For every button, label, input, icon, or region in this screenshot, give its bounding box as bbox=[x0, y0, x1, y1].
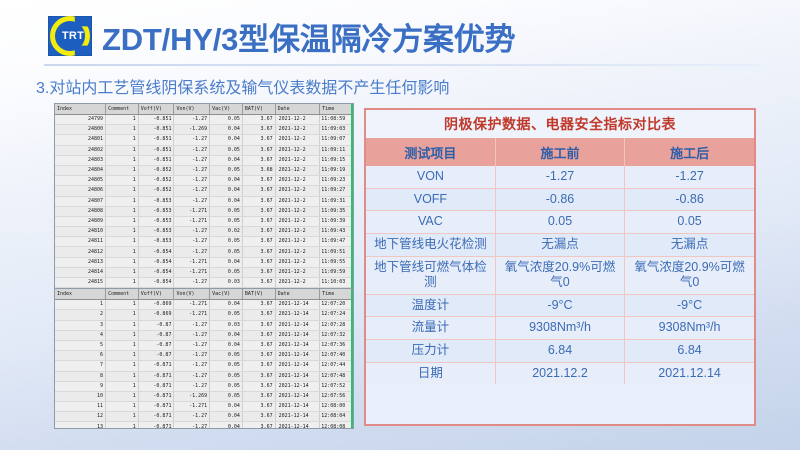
cell-date: 2021-12-14 bbox=[275, 320, 320, 330]
column-header-batv[interactable]: BAT(V) bbox=[242, 289, 275, 300]
cell-time: 11:09:35 bbox=[320, 206, 353, 216]
cell-comment: 1 bbox=[106, 340, 139, 350]
cell-date: 2021-12-14 bbox=[275, 361, 320, 371]
cell-vonv: -1.271 bbox=[174, 216, 210, 226]
cell-voffv: -0.854 bbox=[138, 257, 174, 267]
table-row[interactable]: 131-0.871-1.270.043.672021-12-1412:08:08 bbox=[55, 422, 353, 429]
column-header-time[interactable]: Time bbox=[320, 289, 353, 300]
table-row[interactable]: 111-0.871-1.2710.043.672021-12-1412:08:0… bbox=[55, 402, 353, 412]
value-after: -1.27 bbox=[625, 166, 754, 188]
cell-vonv: -1.27 bbox=[174, 371, 210, 381]
cell-batv: 3.67 bbox=[242, 145, 275, 155]
cell-vacv: 0.05 bbox=[210, 381, 243, 391]
comparison-row: VOFF-0.86-0.86 bbox=[366, 188, 754, 211]
cell-date: 2021-12-2 bbox=[275, 257, 320, 267]
cell-time: 12:07:32 bbox=[320, 330, 353, 340]
cell-time: 11:09:55 bbox=[320, 257, 353, 267]
table-row[interactable]: 248111-0.853-1.270.053.672021-12-211:09:… bbox=[55, 237, 353, 247]
cell-voffv: -0.871 bbox=[138, 422, 174, 429]
table-row[interactable]: 248011-0.851-1.270.043.672021-12-211:09:… bbox=[55, 135, 353, 145]
slide-header: TRT ZDT/HY/3型保温隔冷方案优势 bbox=[0, 8, 800, 64]
table-row[interactable]: 248061-0.852-1.270.043.672021-12-211:09:… bbox=[55, 186, 353, 196]
cell-batv: 3.67 bbox=[242, 227, 275, 237]
cell-date: 2021-12-2 bbox=[275, 216, 320, 226]
cell-time: 11:10:03 bbox=[320, 278, 353, 288]
table-row[interactable]: 21-0.869-1.2710.053.672021-12-1412:07:24 bbox=[55, 310, 353, 320]
cell-vonv: -1.27 bbox=[174, 320, 210, 330]
cell-batv: 3.67 bbox=[242, 412, 275, 422]
comparison-row-label: 温度计 bbox=[366, 294, 495, 317]
cell-time: 11:08:59 bbox=[320, 115, 353, 125]
table-row[interactable]: 51-0.87-1.270.043.672021-12-1412:07:36 bbox=[55, 340, 353, 350]
cell-vacv: 0.05 bbox=[210, 267, 243, 277]
cell-voffv: -0.853 bbox=[138, 196, 174, 206]
cell-comment: 1 bbox=[106, 145, 139, 155]
comparison-row: 温度计-9°C-9°C bbox=[366, 294, 754, 317]
cell-voffv: -0.871 bbox=[138, 361, 174, 371]
table-row[interactable]: 248051-0.852-1.270.043.672021-12-211:09:… bbox=[55, 176, 353, 186]
comparison-row: VON-1.27-1.27 bbox=[366, 166, 754, 188]
value-after: 氧气浓度20.9%可燃气0 bbox=[625, 256, 754, 294]
page-title: ZDT/HY/3型保温隔冷方案优势 bbox=[102, 14, 515, 59]
cell-batv: 3.68 bbox=[242, 165, 275, 175]
cell-batv: 3.67 bbox=[242, 206, 275, 216]
comparison-table: 测试项目施工前施工后 VON-1.27-1.27VOFF-0.86-0.86VA… bbox=[366, 138, 754, 384]
column-header-index[interactable]: Index bbox=[55, 289, 106, 300]
cell-vonv: -1.271 bbox=[174, 310, 210, 320]
cell-voffv: -0.851 bbox=[138, 115, 174, 125]
cell-vonv: -1.271 bbox=[174, 206, 210, 216]
cell-vacv: 0.05 bbox=[210, 237, 243, 247]
cell-batv: 3.67 bbox=[242, 340, 275, 350]
cell-vonv: -1.27 bbox=[174, 145, 210, 155]
value-before: -0.86 bbox=[495, 188, 624, 211]
cell-voffv: -0.871 bbox=[138, 402, 174, 412]
cell-date: 2021-12-14 bbox=[275, 330, 320, 340]
pane-highlight-edge bbox=[351, 289, 353, 429]
table-row[interactable]: 248121-0.854-1.270.053.672021-12-211:09:… bbox=[55, 247, 353, 257]
cell-vacv: 0.03 bbox=[210, 278, 243, 288]
cell-time: 11:09:43 bbox=[320, 227, 353, 237]
cell-comment: 1 bbox=[106, 351, 139, 361]
cell-vonv: -1.27 bbox=[174, 278, 210, 288]
cell-time: 11:09:23 bbox=[320, 176, 353, 186]
cell-index: 3 bbox=[55, 320, 106, 330]
table-row[interactable]: 81-0.871-1.270.053.672021-12-1412:07:48 bbox=[55, 371, 353, 381]
value-after: 0.05 bbox=[625, 211, 754, 234]
cell-vacv: 0.04 bbox=[210, 300, 243, 310]
table-row[interactable]: 248141-0.854-1.2710.053.672021-12-211:09… bbox=[55, 267, 353, 277]
cell-batv: 3.67 bbox=[242, 278, 275, 288]
cell-vonv: -1.269 bbox=[174, 391, 210, 401]
table-header-row: IndexCommentVoff(V)Von(V)Vac(V)BAT(V)Dat… bbox=[55, 104, 353, 115]
table-row[interactable]: 248041-0.852-1.270.053.682021-12-211:09:… bbox=[55, 165, 353, 175]
cell-index: 24810 bbox=[55, 227, 106, 237]
cell-comment: 1 bbox=[106, 135, 139, 145]
cell-comment: 1 bbox=[106, 237, 139, 247]
pane-highlight-edge bbox=[351, 104, 353, 288]
cell-vacv: 0.04 bbox=[210, 155, 243, 165]
value-after: -9°C bbox=[625, 294, 754, 317]
cell-vonv: -1.27 bbox=[174, 135, 210, 145]
column-header-vacv[interactable]: Vac(V) bbox=[210, 104, 243, 115]
section-subtitle: 3.对站内工艺管线阴保系统及输气仪表数据不产生任何影响 bbox=[36, 74, 449, 98]
cell-batv: 3.67 bbox=[242, 237, 275, 247]
comparison-row: VAC0.050.05 bbox=[366, 211, 754, 234]
comparison-row: 地下管线电火花检测无漏点无漏点 bbox=[366, 233, 754, 256]
cell-voffv: -0.853 bbox=[138, 227, 174, 237]
comparison-row-label: VOFF bbox=[366, 188, 495, 211]
cell-comment: 1 bbox=[106, 381, 139, 391]
cell-comment: 1 bbox=[106, 257, 139, 267]
cell-vonv: -1.271 bbox=[174, 267, 210, 277]
cell-time: 12:07:48 bbox=[320, 371, 353, 381]
comparison-row-label: 地下管线电火花检测 bbox=[366, 233, 495, 256]
cell-batv: 3.67 bbox=[242, 422, 275, 429]
cell-time: 11:09:51 bbox=[320, 247, 353, 257]
logo-text: TRT bbox=[62, 30, 84, 42]
cell-index: 24801 bbox=[55, 135, 106, 145]
cell-vonv: -1.271 bbox=[174, 402, 210, 412]
cell-vonv: -1.271 bbox=[174, 300, 210, 310]
cell-index: 24799 bbox=[55, 115, 106, 125]
column-header-comment[interactable]: Comment bbox=[106, 289, 139, 300]
cell-batv: 3.67 bbox=[242, 216, 275, 226]
column-header-vonv[interactable]: Von(V) bbox=[174, 289, 210, 300]
cell-voffv: -0.87 bbox=[138, 330, 174, 340]
table-header-row: IndexCommentVoff(V)Von(V)Vac(V)BAT(V)Dat… bbox=[55, 289, 353, 300]
comparison-row: 流量计9308Nm³/h9308Nm³/h bbox=[366, 317, 754, 340]
value-after: 2021.12.14 bbox=[625, 362, 754, 384]
comparison-column-header-0: 测试项目 bbox=[366, 138, 495, 166]
cell-time: 11:09:59 bbox=[320, 267, 353, 277]
cell-vonv: -1.27 bbox=[174, 227, 210, 237]
cell-date: 2021-12-14 bbox=[275, 300, 320, 310]
cell-voffv: -0.851 bbox=[138, 155, 174, 165]
cell-batv: 3.67 bbox=[242, 196, 275, 206]
cell-voffv: -0.851 bbox=[138, 125, 174, 135]
value-before: -9°C bbox=[495, 294, 624, 317]
cell-vacv: 0.05 bbox=[210, 310, 243, 320]
cell-comment: 1 bbox=[106, 186, 139, 196]
cell-vacv: 0.04 bbox=[210, 402, 243, 412]
cell-vacv: 0.04 bbox=[210, 186, 243, 196]
value-before: 氧气浓度20.9%可燃气0 bbox=[495, 256, 624, 294]
cell-vacv: 0.04 bbox=[210, 125, 243, 135]
cell-index: 24808 bbox=[55, 206, 106, 216]
value-before: 2021.12.2 bbox=[495, 362, 624, 384]
table-row[interactable]: 248101-0.853-1.270.023.672021-12-211:09:… bbox=[55, 227, 353, 237]
table-row[interactable]: 71-0.871-1.270.053.672021-12-1412:07:44 bbox=[55, 361, 353, 371]
cell-comment: 1 bbox=[106, 247, 139, 257]
cell-comment: 1 bbox=[106, 320, 139, 330]
table-row[interactable]: 248081-0.853-1.2710.053.672021-12-211:09… bbox=[55, 206, 353, 216]
cell-batv: 3.67 bbox=[242, 135, 275, 145]
cell-batv: 3.67 bbox=[242, 320, 275, 330]
cell-batv: 3.67 bbox=[242, 351, 275, 361]
cell-voffv: -0.852 bbox=[138, 165, 174, 175]
table-row[interactable]: 248031-0.851-1.270.043.672021-12-211:09:… bbox=[55, 155, 353, 165]
cell-vonv: -1.27 bbox=[174, 196, 210, 206]
cell-batv: 3.67 bbox=[242, 361, 275, 371]
cell-vonv: -1.27 bbox=[174, 351, 210, 361]
cell-voffv: -0.852 bbox=[138, 186, 174, 196]
cell-vonv: -1.27 bbox=[174, 412, 210, 422]
cell-batv: 3.67 bbox=[242, 381, 275, 391]
table-row[interactable]: 31-0.87-1.270.033.672021-12-1412:07:28 bbox=[55, 320, 353, 330]
cell-voffv: -0.87 bbox=[138, 340, 174, 350]
cell-comment: 1 bbox=[106, 300, 139, 310]
cell-index: 12 bbox=[55, 412, 106, 422]
cell-date: 2021-12-2 bbox=[275, 176, 320, 186]
cp-log-pane-before: IndexCommentVoff(V)Von(V)Vac(V)BAT(V)Dat… bbox=[55, 104, 353, 288]
cell-date: 2021-12-14 bbox=[275, 422, 320, 429]
cell-date: 2021-12-2 bbox=[275, 206, 320, 216]
value-after: 6.84 bbox=[625, 340, 754, 363]
cp-log-capture: IndexCommentVoff(V)Von(V)Vac(V)BAT(V)Dat… bbox=[54, 103, 354, 429]
cell-vacv: 0.04 bbox=[210, 176, 243, 186]
cell-vonv: -1.27 bbox=[174, 165, 210, 175]
cell-time: 12:07:56 bbox=[320, 391, 353, 401]
cell-comment: 1 bbox=[106, 115, 139, 125]
cell-vacv: 0.04 bbox=[210, 257, 243, 267]
cell-time: 12:07:40 bbox=[320, 351, 353, 361]
cell-vacv: 0.04 bbox=[210, 340, 243, 350]
table-row[interactable]: 248131-0.854-1.2710.043.672021-12-211:09… bbox=[55, 257, 353, 267]
cell-vonv: -1.27 bbox=[174, 237, 210, 247]
trt-logo: TRT bbox=[48, 16, 92, 56]
cell-date: 2021-12-14 bbox=[275, 391, 320, 401]
cell-index: 24804 bbox=[55, 165, 106, 175]
comparison-column-header-2: 施工后 bbox=[625, 138, 754, 166]
cell-date: 2021-12-14 bbox=[275, 381, 320, 391]
cell-batv: 3.67 bbox=[242, 402, 275, 412]
cell-index: 24807 bbox=[55, 196, 106, 206]
cell-index: 6 bbox=[55, 351, 106, 361]
cell-index: 4 bbox=[55, 330, 106, 340]
cell-index: 24814 bbox=[55, 267, 106, 277]
table-row[interactable]: 11-0.869-1.2710.043.672021-12-1412:07:20 bbox=[55, 300, 353, 310]
table-row[interactable]: 91-0.871-1.270.053.672021-12-1412:07:52 bbox=[55, 381, 353, 391]
comparison-row: 日期2021.12.22021.12.14 bbox=[366, 362, 754, 384]
cell-date: 2021-12-2 bbox=[275, 125, 320, 135]
cell-index: 24815 bbox=[55, 278, 106, 288]
cell-vacv: 0.04 bbox=[210, 412, 243, 422]
comparison-table-panel: 阴极保护数据、电器安全指标对比表 测试项目施工前施工后 VON-1.27-1.2… bbox=[364, 108, 756, 426]
value-before: 无漏点 bbox=[495, 233, 624, 256]
cell-vacv: 0.04 bbox=[210, 196, 243, 206]
cell-comment: 1 bbox=[106, 412, 139, 422]
column-header-time[interactable]: Time bbox=[320, 104, 353, 115]
cell-date: 2021-12-2 bbox=[275, 267, 320, 277]
column-header-vonv[interactable]: Von(V) bbox=[174, 104, 210, 115]
cell-batv: 3.67 bbox=[242, 267, 275, 277]
cell-vacv: 0.05 bbox=[210, 247, 243, 257]
table-row[interactable]: 61-0.87-1.270.053.672021-12-1412:07:40 bbox=[55, 351, 353, 361]
cell-date: 2021-12-14 bbox=[275, 371, 320, 381]
cell-batv: 3.67 bbox=[242, 391, 275, 401]
comparison-row-label: 日期 bbox=[366, 362, 495, 384]
cell-vonv: -1.27 bbox=[174, 155, 210, 165]
cell-voffv: -0.854 bbox=[138, 278, 174, 288]
cell-index: 24812 bbox=[55, 247, 106, 257]
column-header-voffv[interactable]: Voff(V) bbox=[138, 104, 174, 115]
value-before: 9308Nm³/h bbox=[495, 317, 624, 340]
comparison-row-label: 地下管线可燃气体检测 bbox=[366, 256, 495, 294]
cell-comment: 1 bbox=[106, 165, 139, 175]
cell-vonv: -1.27 bbox=[174, 422, 210, 429]
cell-time: 12:08:08 bbox=[320, 422, 353, 429]
cell-time: 12:07:52 bbox=[320, 381, 353, 391]
cell-voffv: -0.853 bbox=[138, 237, 174, 247]
column-header-vacv[interactable]: Vac(V) bbox=[210, 289, 243, 300]
cell-vacv: 0.05 bbox=[210, 216, 243, 226]
column-header-date[interactable]: Date bbox=[275, 289, 320, 300]
cell-index: 7 bbox=[55, 361, 106, 371]
column-header-index[interactable]: Index bbox=[55, 104, 106, 115]
cell-batv: 3.67 bbox=[242, 300, 275, 310]
cell-vacv: 0.05 bbox=[210, 361, 243, 371]
cell-comment: 1 bbox=[106, 310, 139, 320]
cell-vacv: 0.05 bbox=[210, 165, 243, 175]
cell-date: 2021-12-2 bbox=[275, 165, 320, 175]
cell-batv: 3.67 bbox=[242, 310, 275, 320]
cell-voffv: -0.871 bbox=[138, 391, 174, 401]
cell-batv: 3.67 bbox=[242, 330, 275, 340]
value-after: -0.86 bbox=[625, 188, 754, 211]
cell-time: 12:08:04 bbox=[320, 412, 353, 422]
comparison-column-header-1: 施工前 bbox=[495, 138, 624, 166]
cell-comment: 1 bbox=[106, 176, 139, 186]
cell-index: 24809 bbox=[55, 216, 106, 226]
cell-vonv: -1.27 bbox=[174, 340, 210, 350]
cell-date: 2021-12-14 bbox=[275, 310, 320, 320]
cell-date: 2021-12-2 bbox=[275, 247, 320, 257]
cell-index: 10 bbox=[55, 391, 106, 401]
cell-comment: 1 bbox=[106, 155, 139, 165]
column-header-voffv[interactable]: Voff(V) bbox=[138, 289, 174, 300]
comparison-row-label: VON bbox=[366, 166, 495, 188]
cell-comment: 1 bbox=[106, 391, 139, 401]
cell-vacv: 0.04 bbox=[210, 330, 243, 340]
cell-date: 2021-12-2 bbox=[275, 237, 320, 247]
cell-comment: 1 bbox=[106, 371, 139, 381]
cell-comment: 1 bbox=[106, 361, 139, 371]
cell-vacv: 0.05 bbox=[210, 115, 243, 125]
cell-vonv: -1.27 bbox=[174, 186, 210, 196]
value-after: 无漏点 bbox=[625, 233, 754, 256]
cell-index: 24803 bbox=[55, 155, 106, 165]
table-row[interactable]: 248091-0.853-1.2710.053.672021-12-211:09… bbox=[55, 216, 353, 226]
cell-date: 2021-12-2 bbox=[275, 227, 320, 237]
cell-vonv: -1.269 bbox=[174, 125, 210, 135]
cell-date: 2021-12-2 bbox=[275, 135, 320, 145]
cell-date: 2021-12-14 bbox=[275, 340, 320, 350]
cell-vacv: 0.05 bbox=[210, 206, 243, 216]
cell-date: 2021-12-14 bbox=[275, 351, 320, 361]
cell-time: 11:09:47 bbox=[320, 237, 353, 247]
cell-time: 11:09:11 bbox=[320, 145, 353, 155]
cell-index: 9 bbox=[55, 381, 106, 391]
cell-batv: 3.67 bbox=[242, 176, 275, 186]
comparison-header-row: 测试项目施工前施工后 bbox=[366, 138, 754, 166]
cell-vacv: 0.05 bbox=[210, 351, 243, 361]
table-row[interactable]: 248071-0.853-1.270.043.672021-12-211:09:… bbox=[55, 196, 353, 206]
cell-vonv: -1.27 bbox=[174, 381, 210, 391]
cell-voffv: -0.854 bbox=[138, 247, 174, 257]
cell-vacv: 0.05 bbox=[210, 391, 243, 401]
value-after: 9308Nm³/h bbox=[625, 317, 754, 340]
cell-date: 2021-12-2 bbox=[275, 186, 320, 196]
value-before: 0.05 bbox=[495, 211, 624, 234]
cell-index: 2 bbox=[55, 310, 106, 320]
table-row[interactable]: 121-0.871-1.270.043.672021-12-1412:08:04 bbox=[55, 412, 353, 422]
cell-date: 2021-12-14 bbox=[275, 402, 320, 412]
column-header-date[interactable]: Date bbox=[275, 104, 320, 115]
cell-vacv: 0.03 bbox=[210, 320, 243, 330]
cell-time: 11:09:19 bbox=[320, 165, 353, 175]
cell-time: 12:07:44 bbox=[320, 361, 353, 371]
cell-vonv: -1.27 bbox=[174, 247, 210, 257]
table-row[interactable]: 248001-0.851-1.2690.043.672021-12-211:09… bbox=[55, 125, 353, 135]
cell-vacv: 0.05 bbox=[210, 145, 243, 155]
table-row[interactable]: 247991-0.851-1.270.053.672021-12-211:08:… bbox=[55, 115, 353, 125]
cell-batv: 3.67 bbox=[242, 371, 275, 381]
cell-date: 2021-12-2 bbox=[275, 145, 320, 155]
cell-comment: 1 bbox=[106, 125, 139, 135]
table-row[interactable]: 101-0.871-1.2690.053.672021-12-1412:07:5… bbox=[55, 391, 353, 401]
cell-vacv: 0.04 bbox=[210, 422, 243, 429]
cell-batv: 3.67 bbox=[242, 125, 275, 135]
cell-date: 2021-12-2 bbox=[275, 155, 320, 165]
comparison-row: 地下管线可燃气体检测氧气浓度20.9%可燃气0氧气浓度20.9%可燃气0 bbox=[366, 256, 754, 294]
table-row[interactable]: 248151-0.854-1.270.033.672021-12-211:10:… bbox=[55, 278, 353, 288]
comparison-table-title: 阴极保护数据、电器安全指标对比表 bbox=[366, 110, 754, 138]
cell-time: 12:07:28 bbox=[320, 320, 353, 330]
table-row[interactable]: 41-0.87-1.270.043.672021-12-1412:07:32 bbox=[55, 330, 353, 340]
cell-time: 12:07:24 bbox=[320, 310, 353, 320]
cell-comment: 1 bbox=[106, 227, 139, 237]
cell-time: 11:09:15 bbox=[320, 155, 353, 165]
cell-batv: 3.67 bbox=[242, 115, 275, 125]
cell-vacv: 0.05 bbox=[210, 371, 243, 381]
cell-vacv: 0.02 bbox=[210, 227, 243, 237]
cell-time: 11:09:27 bbox=[320, 186, 353, 196]
cell-index: 24802 bbox=[55, 145, 106, 155]
cell-batv: 3.67 bbox=[242, 257, 275, 267]
column-header-comment[interactable]: Comment bbox=[106, 104, 139, 115]
column-header-batv[interactable]: BAT(V) bbox=[242, 104, 275, 115]
comparison-row: 压力计6.846.84 bbox=[366, 340, 754, 363]
cell-time: 11:09:39 bbox=[320, 216, 353, 226]
cell-index: 11 bbox=[55, 402, 106, 412]
cell-time: 12:08:00 bbox=[320, 402, 353, 412]
table-row[interactable]: 248021-0.851-1.270.053.672021-12-211:09:… bbox=[55, 145, 353, 155]
cell-voffv: -0.851 bbox=[138, 135, 174, 145]
cell-voffv: -0.854 bbox=[138, 267, 174, 277]
cell-date: 2021-12-14 bbox=[275, 412, 320, 422]
cell-time: 11:09:07 bbox=[320, 135, 353, 145]
cell-voffv: -0.871 bbox=[138, 412, 174, 422]
header-divider bbox=[44, 64, 760, 66]
cell-comment: 1 bbox=[106, 330, 139, 340]
cell-voffv: -0.869 bbox=[138, 310, 174, 320]
cell-time: 11:09:03 bbox=[320, 125, 353, 135]
cell-voffv: -0.869 bbox=[138, 300, 174, 310]
cell-vonv: -1.271 bbox=[174, 257, 210, 267]
cell-date: 2021-12-2 bbox=[275, 115, 320, 125]
cell-vonv: -1.27 bbox=[174, 115, 210, 125]
